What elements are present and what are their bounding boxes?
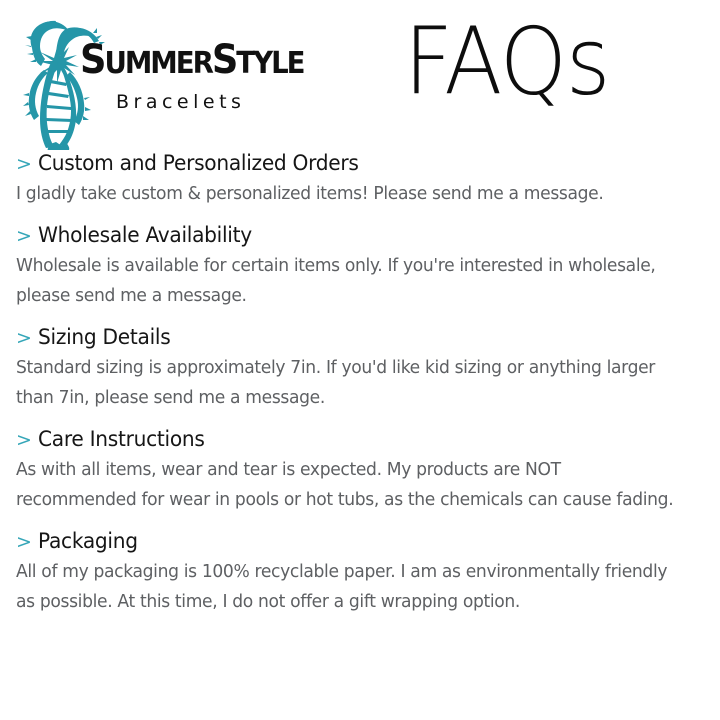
wordmark-s2: S xyxy=(212,37,236,83)
faq-answer: Wholesale is available for certain items… xyxy=(16,251,682,311)
faq-question[interactable]: > Packaging xyxy=(16,528,704,556)
faq-item[interactable]: > Sizing Details Standard sizing is appr… xyxy=(0,324,720,413)
faq-question[interactable]: > Wholesale Availability xyxy=(16,222,704,250)
brand-lockup[interactable]: SUMMERSTYLE Bracelets xyxy=(8,4,308,150)
faq-question[interactable]: > Custom and Personalized Orders xyxy=(16,150,704,178)
wordmark-ummer: UMMER xyxy=(104,46,211,81)
chevron-right-icon: > xyxy=(16,223,32,250)
faq-answer: I gladly take custom & personalized item… xyxy=(16,179,682,209)
chevron-right-icon: > xyxy=(16,529,32,556)
brand-wordmark: SUMMERSTYLE Bracelets xyxy=(80,40,310,113)
chevron-right-icon: > xyxy=(16,325,32,352)
faq-question-text: Custom and Personalized Orders xyxy=(38,150,359,177)
chevron-right-icon: > xyxy=(16,427,32,454)
faq-question-text: Wholesale Availability xyxy=(38,222,252,249)
faq-question-text: Packaging xyxy=(38,528,138,555)
faq-question[interactable]: > Sizing Details xyxy=(16,324,704,352)
faq-question-text: Care Instructions xyxy=(38,426,205,453)
faq-answer: As with all items, wear and tear is expe… xyxy=(16,455,682,515)
faq-item[interactable]: > Packaging All of my packaging is 100% … xyxy=(0,528,720,617)
faq-question[interactable]: > Care Instructions xyxy=(16,426,704,454)
chevron-right-icon: > xyxy=(16,151,32,178)
faq-list: > Custom and Personalized Orders I gladl… xyxy=(0,150,720,617)
faq-answer: Standard sizing is approximately 7in. If… xyxy=(16,353,682,413)
wordmark-tyle: TYLE xyxy=(236,46,303,81)
faq-item[interactable]: > Wholesale Availability Wholesale is av… xyxy=(0,222,720,311)
page-title: FAQs xyxy=(404,8,609,116)
faq-answer: All of my packaging is 100% recyclable p… xyxy=(16,557,682,617)
wordmark-s1: S xyxy=(80,37,104,83)
page-header: SUMMERSTYLE Bracelets FAQs xyxy=(0,0,720,150)
faq-item[interactable]: > Care Instructions As with all items, w… xyxy=(0,426,720,515)
faq-item[interactable]: > Custom and Personalized Orders I gladl… xyxy=(0,150,720,209)
faq-question-text: Sizing Details xyxy=(38,324,170,351)
brand-subtitle: Bracelets xyxy=(116,91,310,113)
brand-wordmark-main: SUMMERSTYLE xyxy=(80,40,292,84)
